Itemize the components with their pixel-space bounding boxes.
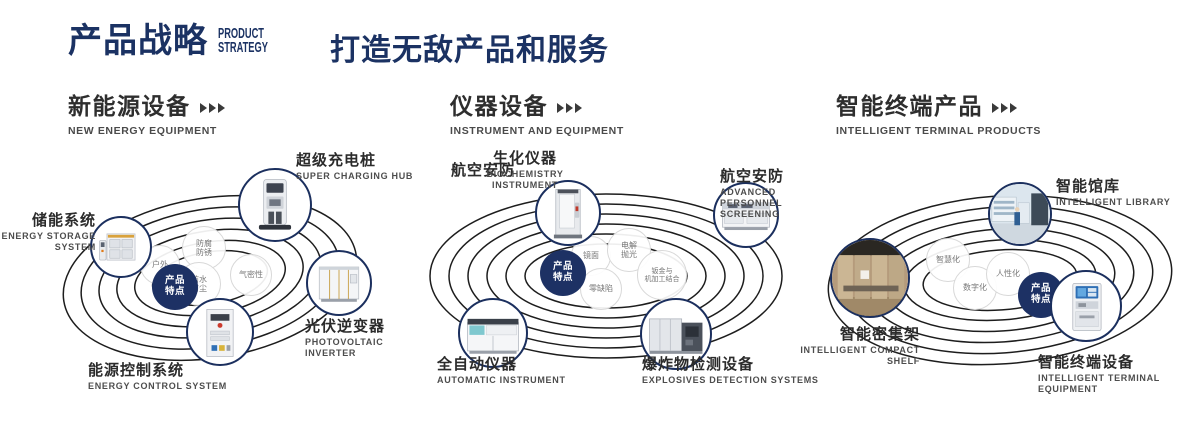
node-label-intelligent-library: 智能馆库 INTELLIGENT LIBRARY	[1056, 178, 1170, 208]
node-label-en: ENERGY CONTROL SYSTEM	[88, 381, 227, 392]
node-label-energy-storage: 储能系统 ENERGY STORAGE SYSTEM	[0, 212, 96, 253]
node-label-cn: 生化仪器	[460, 150, 590, 167]
section-title-cn: 智能终端产品	[836, 96, 983, 119]
product-node-energy-storage[interactable]	[90, 216, 152, 278]
chevrons-right-icon	[557, 103, 582, 113]
feature-line-1: 电解	[621, 241, 637, 250]
node-label-cn: 能源控制系统	[88, 362, 227, 379]
feature-line-1: 镜面	[583, 251, 599, 260]
node-label-cn: 智能终端设备	[1038, 354, 1200, 371]
feature-line-1: 钣金与	[652, 267, 673, 275]
product-node-terminal-equipment[interactable]	[1050, 270, 1122, 342]
badge-line-2: 特点	[1031, 295, 1051, 306]
diagram-intelligent-terminal: 智慧化 数字化 人性化 产品 特点	[800, 150, 1200, 422]
badge-line-2: 特点	[165, 287, 185, 298]
section-heading-new-energy: 新能源设备 NEW ENERGY EQUIPMENT	[68, 96, 225, 137]
node-label-en: ENERGY STORAGE SYSTEM	[0, 231, 96, 254]
feature-line-2: 抛光	[621, 250, 637, 259]
section-heading-intelligent-terminal: 智能终端产品 INTELLIGENT TERMINAL PRODUCTS	[836, 96, 1041, 137]
feature-line-1: 智慧化	[936, 255, 960, 264]
product-node-energy-control[interactable]	[186, 298, 254, 366]
node-label-biochemistry: 生化仪器 BIOCHEMISTRY INSTRUMENT	[460, 150, 590, 191]
diagram-instruments: 镜面 电解 抛光 零缺陷 钣金与 机加工结合 产品 特点	[400, 150, 820, 422]
node-label-terminal-equipment: 智能终端设备 INTELLIGENT TERMINAL EQUIPMENT	[1038, 354, 1200, 395]
node-label-cn: 智能馆库	[1056, 178, 1170, 195]
node-label-en: EXPLOSIVES DETECTION SYSTEMS	[642, 375, 819, 386]
feature-bubble: 零缺陷	[580, 268, 622, 310]
node-label-en: INTELLIGENT LIBRARY	[1056, 197, 1170, 208]
page-title-en: PRODUCT STRATEGY	[218, 27, 268, 56]
node-label-automatic-instrument: 全自动仪器 AUTOMATIC INSTRUMENT	[437, 356, 566, 386]
page-slogan: 打造无敌产品和服务	[330, 36, 609, 66]
product-features-badge: 产品 特点	[540, 250, 586, 296]
product-node-intelligent-library[interactable]	[988, 182, 1052, 246]
node-label-en: INTELLIGENT COMPACT SHELF	[790, 345, 920, 368]
section-heading-instruments: 仪器设备 INSTRUMENT AND EQUIPMENT	[450, 96, 624, 137]
node-label-en: AUTOMATIC INSTRUMENT	[437, 375, 566, 386]
badge-line-2: 特点	[553, 273, 573, 284]
section-title-en: NEW ENERGY EQUIPMENT	[68, 125, 225, 137]
page-title-en-line2: STRATEGY	[218, 41, 268, 56]
library-interior-icon	[990, 184, 1050, 244]
feature-line-1: 人性化	[996, 269, 1020, 278]
product-node-compact-shelf[interactable]	[830, 238, 910, 318]
chevrons-right-icon	[992, 103, 1017, 113]
self-service-kiosk-icon	[1052, 272, 1120, 340]
feature-line-2: 防锈	[196, 248, 212, 257]
page-title: 产品战略 PRODUCT STRATEGY	[68, 24, 299, 58]
node-label-compact-shelf: 智能密集架 INTELLIGENT COMPACT SHELF	[790, 326, 920, 367]
node-label-en: INTELLIGENT TERMINAL EQUIPMENT	[1038, 373, 1200, 396]
product-strategy-infographic: 产品战略 PRODUCT STRATEGY 打造无敌产品和服务 新能源设备 NE…	[0, 0, 1200, 422]
node-label-cn: 储能系统	[0, 212, 96, 229]
node-label-cn: 全自动仪器	[437, 356, 566, 373]
feature-line-1: 数字化	[963, 283, 987, 292]
section-title-en: INSTRUMENT AND EQUIPMENT	[450, 125, 624, 137]
feature-bubble: 钣金与 机加工结合	[637, 250, 687, 300]
product-node-pv-inverter[interactable]	[306, 250, 372, 316]
section-title-en: INTELLIGENT TERMINAL PRODUCTS	[836, 125, 1041, 137]
page-title-cn: 产品战略	[68, 24, 208, 58]
feature-bubble: 气密性	[230, 254, 272, 296]
section-title-cn: 新能源设备	[68, 96, 191, 119]
pv-inverter-cabinet-icon	[308, 252, 370, 314]
node-label-cn: 智能密集架	[790, 326, 920, 343]
feature-line-1: 气密性	[239, 270, 263, 279]
chevrons-right-icon	[200, 103, 225, 113]
node-label-energy-control: 能源控制系统 ENERGY CONTROL SYSTEM	[88, 362, 227, 392]
feature-line-2: 机加工结合	[645, 275, 680, 283]
compact-shelf-icon	[832, 240, 908, 316]
diagram-new-energy: 防腐 防锈 户外 气密性 防水 防尘 产品 特点	[0, 150, 420, 422]
control-cabinet-icon	[188, 300, 252, 364]
node-label-en: BIOCHEMISTRY INSTRUMENT	[460, 169, 590, 192]
feature-line-1: 零缺陷	[589, 284, 613, 293]
energy-storage-cabinet-icon	[92, 218, 150, 276]
section-title-cn: 仪器设备	[450, 96, 548, 119]
biochemistry-scanner-icon	[537, 182, 599, 244]
feature-line-1: 防腐	[196, 239, 212, 248]
